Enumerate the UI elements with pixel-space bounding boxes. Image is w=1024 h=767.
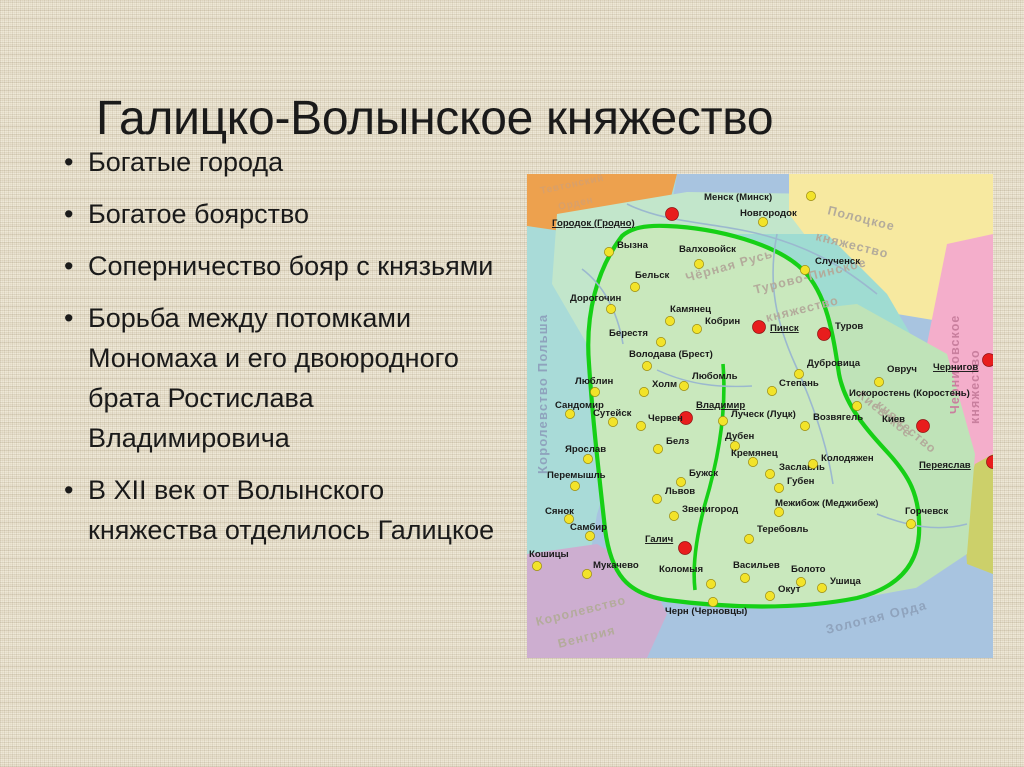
- city-dot: [740, 573, 749, 582]
- city-dot: [606, 304, 615, 313]
- city-label: Бельск: [635, 270, 670, 281]
- city-dot: [718, 416, 727, 425]
- list-item-label: Соперничество бояр с князьями: [88, 246, 508, 286]
- city-label: Володава (Брест): [629, 349, 713, 360]
- city-dot: [636, 421, 645, 430]
- city-dot: [817, 583, 826, 592]
- bullet-marker-icon: •: [58, 246, 88, 286]
- city-label: Искоростень (Коростень): [849, 388, 970, 399]
- city-dot: [582, 569, 591, 578]
- city-label: Кобрин: [705, 316, 740, 327]
- city-label: Кошицы: [529, 549, 569, 560]
- city-label: Окут: [778, 584, 801, 595]
- city-label: Червен: [648, 413, 683, 424]
- city-label: Валховойск: [679, 244, 736, 255]
- capital-dot: [818, 328, 831, 341]
- city-label: Переяслав: [919, 460, 971, 471]
- bullet-marker-icon: •: [58, 298, 88, 338]
- city-dot: [906, 519, 915, 528]
- region-label-chernigov-2: княжество: [968, 349, 982, 424]
- city-dot: [765, 591, 774, 600]
- presentation-slide: Галицко-Волынское княжество • Богатые го…: [0, 0, 1024, 767]
- city-label: Перемышль: [547, 470, 606, 481]
- city-label: Камянец: [670, 304, 711, 315]
- list-item-label: Богатые города: [88, 142, 508, 182]
- city-label: Горчевск: [905, 506, 948, 517]
- capital-dot: [666, 208, 679, 221]
- capital-dot: [753, 321, 766, 334]
- city-label: Звенигород: [682, 504, 738, 515]
- list-item-label: Богатое боярство: [88, 194, 508, 234]
- city-label: Пинск: [770, 323, 799, 334]
- page-title: Галицко-Волынское княжество: [96, 92, 976, 146]
- city-label: Дубен: [725, 431, 755, 442]
- city-label: Колодяжен: [821, 453, 874, 464]
- city-label: Возвягель: [813, 412, 863, 423]
- city-label: Степань: [779, 378, 819, 389]
- city-dot: [532, 561, 541, 570]
- list-item-label: В XII век от Волынского княжества отдели…: [88, 470, 508, 550]
- city-dot: [744, 534, 753, 543]
- city-label: Киев: [882, 414, 905, 425]
- city-label: Сутейск: [593, 408, 632, 419]
- city-label: Черн (Черновцы): [665, 606, 747, 617]
- city-dot: [767, 386, 776, 395]
- city-label: Белз: [666, 436, 689, 447]
- city-dot: [656, 337, 665, 346]
- historical-map-image: Тевтонский Орден Королевство Польша Чёрн…: [527, 174, 993, 658]
- city-label: Городок (Гродно): [552, 218, 635, 229]
- capital-dot: [679, 542, 692, 555]
- city-dot: [630, 282, 639, 291]
- city-label: Заславль: [779, 462, 825, 473]
- city-label: Холм: [652, 379, 677, 390]
- city-dot: [653, 444, 662, 453]
- city-label: Коломыя: [659, 564, 703, 575]
- region-label-poland: Королевство Польша: [535, 314, 550, 474]
- city-label: Бужск: [689, 468, 718, 479]
- city-label: Дорогочин: [570, 293, 621, 304]
- city-label: Теребовль: [757, 524, 808, 535]
- city-dot: [774, 483, 783, 492]
- list-item: • Соперничество бояр с князьями: [58, 246, 508, 286]
- city-label: Овруч: [887, 364, 917, 375]
- city-label: Менск (Минск): [704, 192, 772, 203]
- city-label: Кремянец: [731, 448, 778, 459]
- city-dot: [604, 247, 613, 256]
- city-dot: [669, 511, 678, 520]
- city-dot: [639, 387, 648, 396]
- city-label: Дубровица: [807, 358, 861, 369]
- list-item: • Борьба между потомками Мономаха и его …: [58, 298, 508, 458]
- city-label: Берестя: [609, 328, 648, 339]
- bullet-list: • Богатые города • Богатое боярство • Со…: [58, 142, 508, 562]
- city-label: Сянок: [545, 506, 574, 517]
- city-label: Васильев: [733, 560, 780, 571]
- city-dot: [806, 191, 815, 200]
- bullet-marker-icon: •: [58, 194, 88, 234]
- bullet-marker-icon: •: [58, 142, 88, 182]
- city-label: Самбир: [570, 522, 607, 533]
- city-dot: [694, 259, 703, 268]
- city-dot: [570, 481, 579, 490]
- list-item: • В XII век от Волынского княжества отде…: [58, 470, 508, 550]
- city-label: Львов: [665, 486, 695, 497]
- list-item: • Богатые города: [58, 142, 508, 182]
- city-dot: [692, 324, 701, 333]
- city-label: Любомль: [692, 371, 738, 382]
- city-label: Луческ (Луцк): [731, 409, 796, 420]
- city-dot: [800, 421, 809, 430]
- city-label: Болото: [791, 564, 826, 575]
- city-dot: [679, 381, 688, 390]
- city-dot: [583, 454, 592, 463]
- city-dot: [800, 265, 809, 274]
- city-label: Галич: [645, 534, 673, 545]
- city-dot: [652, 494, 661, 503]
- city-label: Слученск: [815, 256, 860, 267]
- list-item: • Богатое боярство: [58, 194, 508, 234]
- city-dot: [852, 401, 861, 410]
- city-label: Люблин: [575, 376, 613, 387]
- city-label: Чернигов: [933, 362, 978, 373]
- city-dot: [765, 469, 774, 478]
- city-dot: [665, 316, 674, 325]
- city-dot: [642, 361, 651, 370]
- city-dot: [706, 579, 715, 588]
- city-label: Губен: [787, 476, 815, 487]
- city-dot: [874, 377, 883, 386]
- list-item-label: Борьба между потомками Мономаха и его дв…: [88, 298, 508, 458]
- city-label: Ушица: [830, 576, 862, 587]
- city-dot: [590, 387, 599, 396]
- city-label: Ярослав: [565, 444, 606, 455]
- capital-dot: [917, 420, 930, 433]
- city-label: Вызна: [617, 240, 649, 251]
- capital-dot: [983, 354, 994, 367]
- city-label: Межибож (Меджибеж): [775, 498, 878, 509]
- city-label: Мукачево: [593, 560, 639, 571]
- city-label: Новгородок: [740, 208, 797, 219]
- city-label: Туров: [835, 321, 863, 332]
- city-dot: [808, 459, 817, 468]
- bullet-marker-icon: •: [58, 470, 88, 510]
